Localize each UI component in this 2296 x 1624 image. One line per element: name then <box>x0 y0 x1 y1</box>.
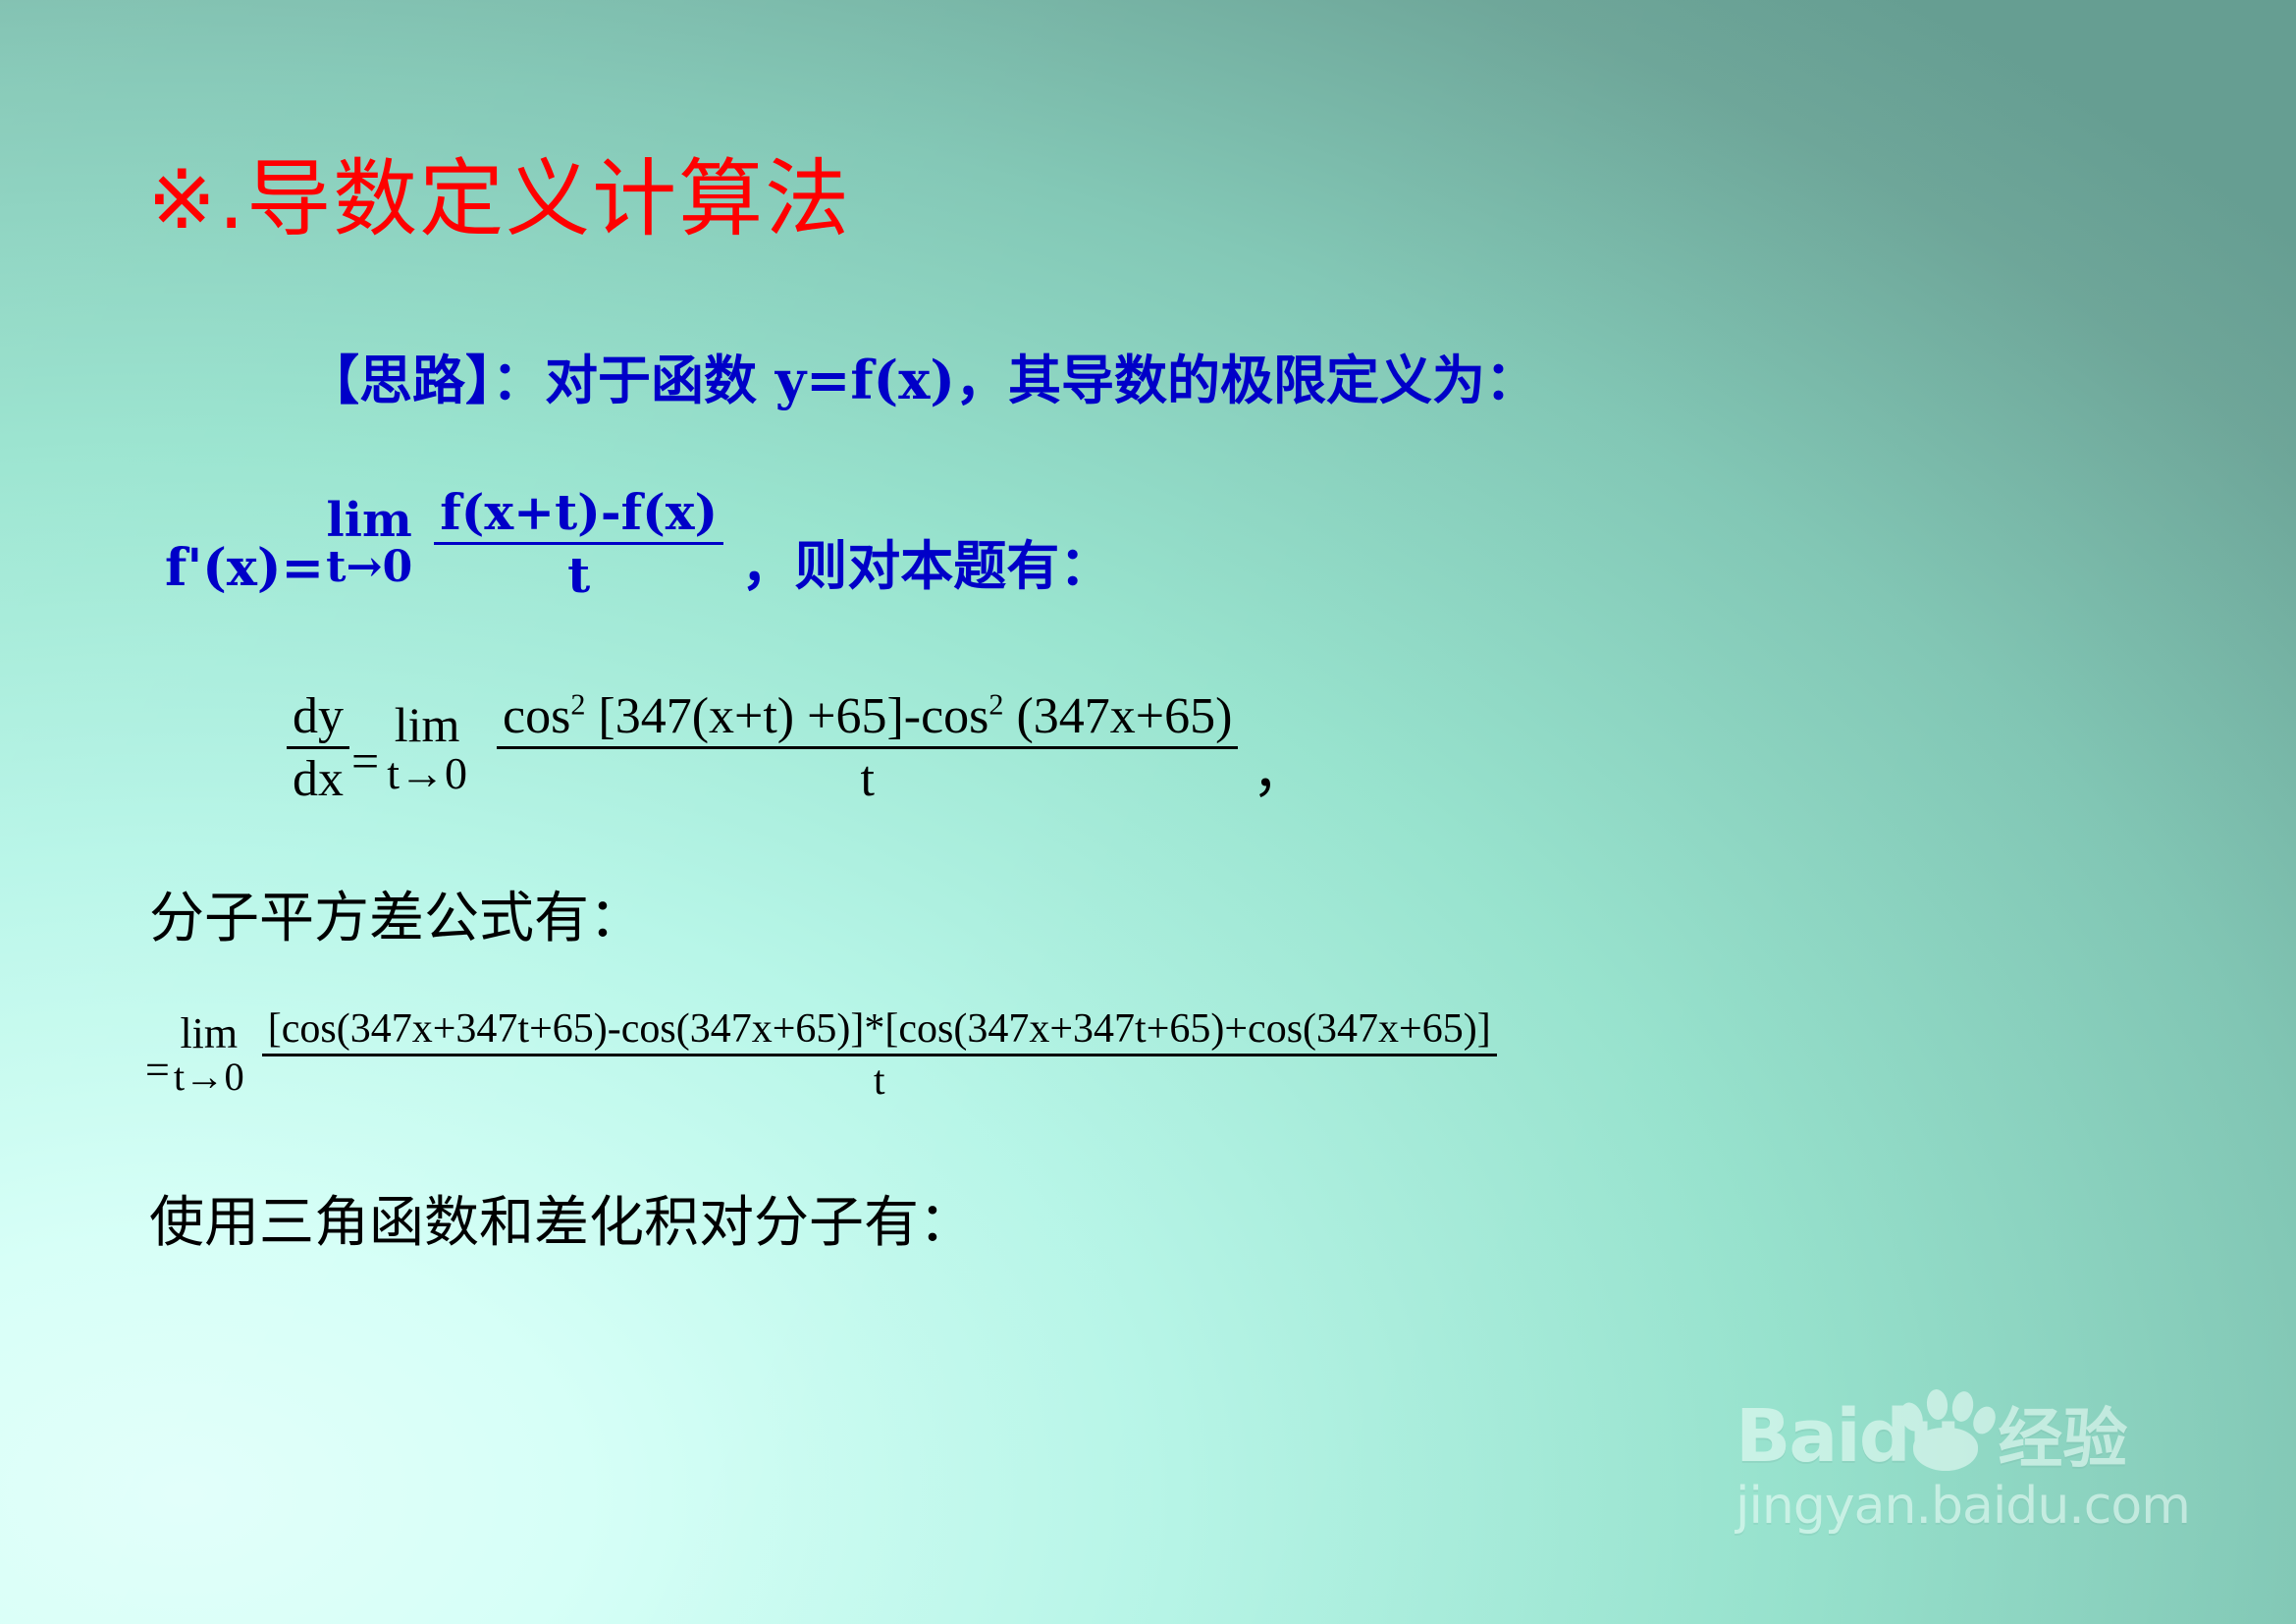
dy-numerator: dy <box>287 687 349 749</box>
quotient-numerator: [cos(347x+347t+65)-cos(347x+65)]*[cos(34… <box>262 1005 1497 1056</box>
quotient-denominator: t <box>868 1056 891 1105</box>
limit-operator: lim t→0 <box>174 1012 244 1097</box>
exponent-2: 2 <box>988 688 1003 722</box>
quotient-numerator: f(x+t)-f(x) <box>434 483 723 545</box>
dy-dx-fraction: dy dx <box>287 687 349 808</box>
baidu-logo: Baidu 经验 <box>1735 1365 2158 1471</box>
cos-token-1: cos <box>503 688 570 744</box>
paw-pad <box>1913 1428 1978 1471</box>
paw-toe-2 <box>1926 1388 1949 1421</box>
paw-toe-3 <box>1950 1389 1976 1423</box>
quotient-numerator: cos2 [347(x+t) +65]-cos2 (347x+65) <box>497 687 1238 749</box>
watermark-url: jingyan.baidu.com <box>1735 1477 2158 1536</box>
equals-sign: = <box>145 1045 170 1095</box>
baidu-word-bai: Bai <box>1735 1394 1859 1479</box>
presentation-slide: ※.导数定义计算法 【思路】：对于函数 y=f(x)，其导数的极限定义为： f'… <box>0 0 2296 1624</box>
limit-label: lim <box>327 497 412 544</box>
title-marker: ※. <box>147 151 246 247</box>
caption-sum-to-product: 使用三角函数和差化积对分子有： <box>149 1178 974 1258</box>
trailing-comma: ， <box>1252 729 1307 808</box>
caption-square-difference: 分子平方差公式有： <box>149 874 644 953</box>
derivative-definition-formula: f'(x)= lim t→0 f(x+t)-f(x) t ，则对本题有： <box>165 483 1112 604</box>
equals-sign: = <box>351 732 379 789</box>
difference-quotient: f(x+t)-f(x) t <box>434 483 723 604</box>
paw-toe-4 <box>1969 1403 2000 1437</box>
jingyan-label: 经验 <box>1998 1409 2127 1471</box>
dx-denominator: dx <box>287 749 349 808</box>
limit-variable: t→0 <box>174 1057 244 1097</box>
limit-variable: t→0 <box>387 751 467 796</box>
expanded-quotient: [cos(347x+347t+65)-cos(347x+65)]*[cos(34… <box>262 1005 1497 1105</box>
limit-operator: lim t→0 <box>387 700 467 796</box>
limit-operator: lim t→0 <box>326 497 412 589</box>
limit-variable: t→0 <box>326 546 412 589</box>
expanded-numerator-formula: = lim t→0 [cos(347x+347t+65)-cos(347x+65… <box>145 1005 1497 1105</box>
quotient-denominator: t <box>854 749 880 808</box>
title-text: 导数定义计算法 <box>246 150 851 248</box>
exponent-1: 2 <box>570 688 585 722</box>
cos-square-quotient: cos2 [347(x+t) +65]-cos2 (347x+65) t <box>497 687 1238 808</box>
paw-toe-1 <box>1897 1399 1928 1435</box>
numerator-end: (347x+65) <box>1003 688 1232 744</box>
limit-label: lim <box>395 700 460 749</box>
formula-lhs: f'(x)= <box>165 538 324 598</box>
formula-tail-text: ，则对本题有： <box>741 522 1112 600</box>
limit-label: lim <box>180 1012 238 1056</box>
numerator-mid: [347(x+t) +65]-cos <box>585 688 988 744</box>
quotient-denominator: t <box>561 545 596 604</box>
paw-print-icon <box>1896 1375 1990 1469</box>
intro-text: 【思路】：对于函数 y=f(x)，其导数的极限定义为： <box>306 352 1538 409</box>
problem-derivative-formula: dy dx = lim t→0 cos2 [347(x+t) +65]-cos2… <box>287 687 1307 808</box>
baidu-jingyan-watermark: Baidu 经验 jingyan.baidu.com <box>1735 1365 2158 1536</box>
slide-title: ※.导数定义计算法 <box>147 157 851 242</box>
